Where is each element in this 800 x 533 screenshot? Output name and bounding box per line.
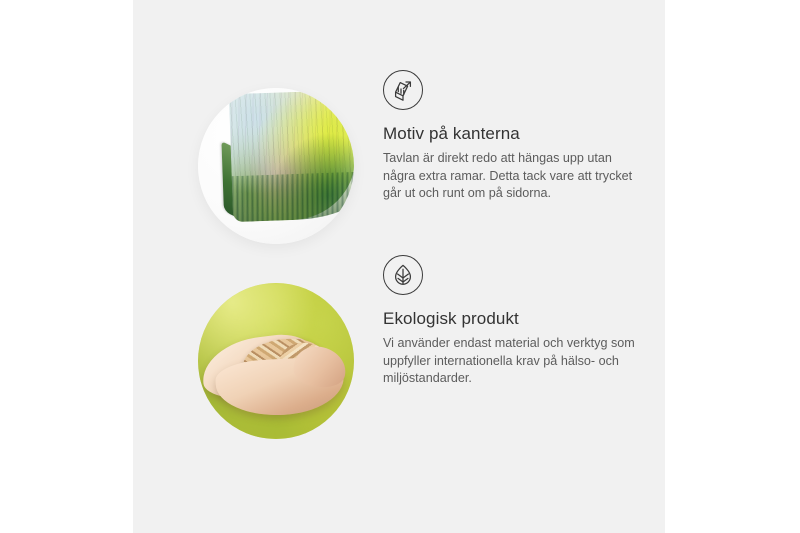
leaf-icon <box>383 255 423 295</box>
feature-description: Tavlan är direkt redo att hängas upp uta… <box>383 150 645 203</box>
canvas-print-corner-photo <box>198 88 354 244</box>
feature-block-eco-product: Ekologisk produkt Vi använder endast mat… <box>133 255 665 455</box>
canvas-print-object <box>229 90 354 222</box>
page-root: Motiv på kanterna Tavlan är direkt redo … <box>0 0 800 533</box>
feature-content-canvas-edges: Motiv på kanterna Tavlan är direkt redo … <box>383 70 661 203</box>
feature-block-canvas-edges: Motiv på kanterna Tavlan är direkt redo … <box>133 70 665 260</box>
feature-title: Motiv på kanterna <box>383 123 661 144</box>
feature-content-eco-product: Ekologisk produkt Vi använder endast mat… <box>383 255 661 388</box>
feature-description: Vi använder endast material och verktyg … <box>383 335 645 388</box>
canvas-wrapped-edges-icon <box>383 70 423 110</box>
wood-chips-in-hands-photo <box>198 283 354 439</box>
canvas-bottom-fringe <box>232 172 354 222</box>
content-panel: Motiv på kanterna Tavlan är direkt redo … <box>133 0 665 533</box>
feature-title: Ekologisk produkt <box>383 308 661 329</box>
